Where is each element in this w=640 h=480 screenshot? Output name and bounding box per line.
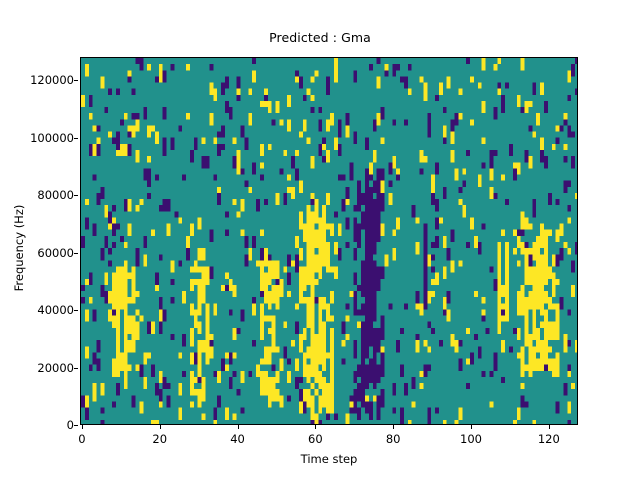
y-tick-label: 100000 [2, 131, 74, 145]
y-tick-label: 60000 [2, 246, 74, 260]
y-tick-mark [74, 80, 78, 81]
x-tick-mark [315, 425, 316, 429]
y-tick-label: 0 [2, 418, 74, 432]
y-axis-ticks: 020000400006000080000100000120000 [0, 57, 74, 425]
matplotlib-figure: Predicted : Gma Frequency (Hz) 020000400… [0, 0, 640, 480]
x-tick-label: 100 [441, 432, 501, 446]
x-tick-mark [238, 425, 239, 429]
x-tick-mark [393, 425, 394, 429]
heatmap-axes [80, 57, 578, 425]
x-tick-mark [471, 425, 472, 429]
x-tick-mark [160, 425, 161, 429]
x-tick-label: 40 [208, 432, 268, 446]
y-tick-label: 20000 [2, 361, 74, 375]
x-tick-label: 20 [130, 432, 190, 446]
y-tick-mark [74, 195, 78, 196]
y-tick-mark [74, 253, 78, 254]
y-tick-mark [74, 138, 78, 139]
y-tick-mark [74, 310, 78, 311]
x-tick-mark [549, 425, 550, 429]
y-tick-label: 80000 [2, 188, 74, 202]
y-tick-mark [74, 425, 78, 426]
x-tick-label: 80 [363, 432, 423, 446]
y-tick-mark [74, 368, 78, 369]
page-title: Predicted : Gma [0, 30, 640, 45]
x-tick-label: 120 [519, 432, 579, 446]
heatmap-image [81, 58, 578, 425]
y-tick-label: 120000 [2, 73, 74, 87]
x-axis-label: Time step [80, 452, 578, 466]
x-tick-label: 0 [52, 432, 112, 446]
x-tick-mark [82, 425, 83, 429]
y-tick-label: 40000 [2, 303, 74, 317]
x-tick-label: 60 [285, 432, 345, 446]
